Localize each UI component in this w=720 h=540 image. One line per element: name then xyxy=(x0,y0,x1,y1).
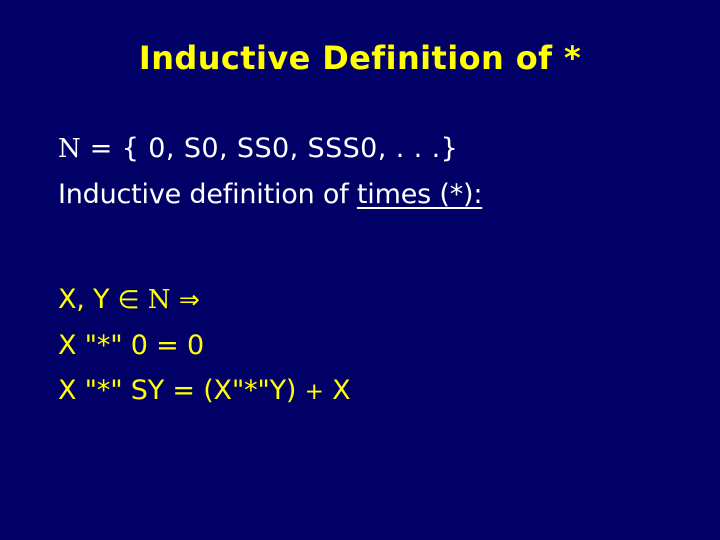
body-line-inductive-definition-of-times: Inductive definition of times (*): xyxy=(58,172,698,217)
implies-icon: ⇒ xyxy=(179,285,200,314)
slide-title: Inductive Definition of * xyxy=(0,38,720,78)
element-of-icon: ∈ xyxy=(118,285,140,314)
plus-icon: + xyxy=(305,379,324,405)
nat-set-enumeration: = { 0, S0, SS0, SSS0, . . .} xyxy=(81,133,458,164)
inductive-case-equation-right: X xyxy=(324,375,351,406)
variables-label: X, Y xyxy=(58,284,118,315)
nat-symbol: N xyxy=(58,134,81,164)
slide-body: N = { 0, S0, SS0, SSS0, . . .} Inductive… xyxy=(58,126,698,415)
quantifier-space-2 xyxy=(170,284,178,315)
body-line-quantifier: X, Y ∈ N ⇒ xyxy=(58,277,698,323)
inductive-case-equation-left: X "*" SY = (X"*"Y) xyxy=(58,375,305,406)
body-line-base-case: X "*" 0 = 0 xyxy=(58,323,698,368)
slide-canvas: Inductive Definition of * N = { 0, S0, S… xyxy=(0,0,720,540)
body-blank-separator xyxy=(58,217,698,277)
base-case-equation: X "*" 0 = 0 xyxy=(58,330,204,361)
body-line-inductive-case: X "*" SY = (X"*"Y) + X xyxy=(58,368,698,415)
nat-symbol-quantifier: N xyxy=(148,285,171,315)
quantifier-space-1 xyxy=(139,284,147,315)
inductive-definition-prefix: Inductive definition of xyxy=(58,179,357,210)
body-line-nat-set-definition: N = { 0, S0, SS0, SSS0, . . .} xyxy=(58,126,698,172)
times-operator-label: times (*): xyxy=(357,179,482,210)
